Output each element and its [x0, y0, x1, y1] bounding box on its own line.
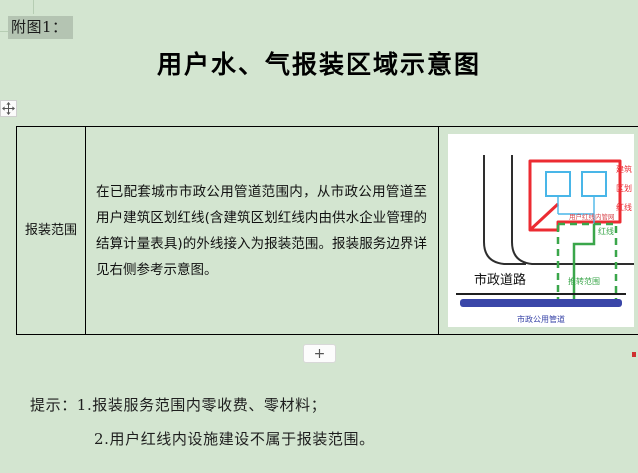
- cell-row-label: 报装范围: [17, 127, 86, 335]
- note-line-1: 提示：1.报装服务范围内零收费、零材料；: [30, 388, 610, 422]
- page-margin-vertical-guide: [33, 0, 34, 14]
- scope-table: 报装范围 在已配套城市市政公用管道范围内，从市政公用管道至用户建筑区划红线(含建…: [16, 126, 638, 335]
- notes-block: 提示：1.报装服务范围内零收费、零材料； 2.用户红线内设施建设不属于报装范围。: [30, 388, 610, 456]
- label-red-line3: 红线: [616, 202, 632, 212]
- scope-diagram: 建筑 区划 红线 用户红线内管网 红线 推转范围 市政道路 市政公用管道: [448, 134, 634, 327]
- note-line-2: 2.用户红线内设施建设不属于报装范围。: [30, 422, 610, 456]
- label-red-line1: 建筑: [616, 164, 632, 174]
- cell-figure: 建筑 区划 红线 用户红线内管网 红线 推转范围 市政道路 市政公用管道: [439, 127, 638, 335]
- label-green-scope: 推转范围: [568, 276, 600, 286]
- insert-row-button[interactable]: +: [303, 344, 336, 363]
- figure-caption: 附图1：: [8, 16, 73, 39]
- page-edge-marker: [632, 352, 636, 357]
- label-inner-pipe: 用户红线内管网: [569, 212, 615, 221]
- page-title: 用户水、气报装区域示意图: [0, 48, 638, 82]
- building-block-1: [546, 172, 570, 196]
- move-cross-icon: [2, 102, 15, 115]
- label-green-top: 红线: [598, 226, 614, 236]
- cell-description: 在已配套城市市政公用管道范围内，从市政公用管道至用户建筑区划红线(含建筑区划红线…: [86, 127, 439, 335]
- scope-diagram-svg: 建筑 区划 红线 用户红线内管网 红线 推转范围 市政道路 市政公用管道: [448, 134, 634, 327]
- building-block-2: [582, 172, 606, 196]
- label-road: 市政道路: [474, 272, 526, 288]
- label-public-pipe: 市政公用管道: [517, 314, 565, 324]
- description-text: 在已配套城市市政公用管道范围内，从市政公用管道至用户建筑区划红线(含建筑区划红线…: [96, 179, 427, 283]
- label-red-line2: 区划: [616, 183, 632, 193]
- row-label-text: 报装范围: [25, 223, 77, 238]
- municipal-pipe-bar: [460, 299, 622, 307]
- table-row: 报装范围 在已配套城市市政公用管道范围内，从市政公用管道至用户建筑区划红线(含建…: [17, 127, 638, 335]
- table-move-handle[interactable]: [0, 100, 17, 117]
